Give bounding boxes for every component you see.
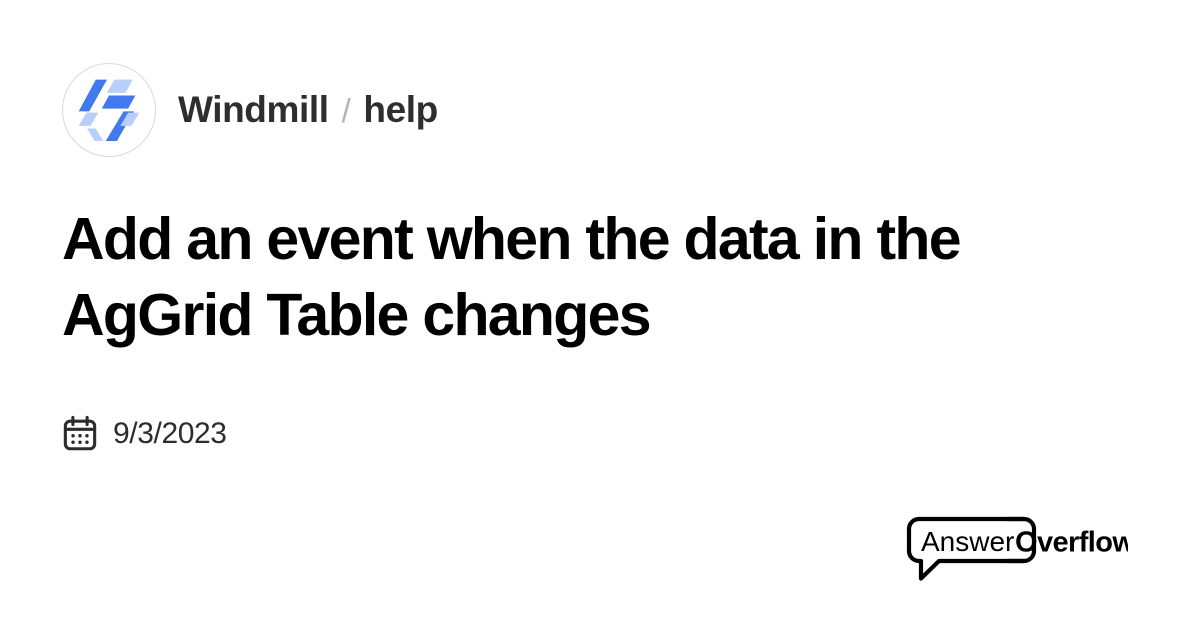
- server-breadcrumb-row: Windmill / help: [62, 62, 1136, 158]
- social-card: Windmill / help Add an event when the da…: [0, 0, 1200, 630]
- calendar-icon: [62, 415, 98, 452]
- date-row: 9/3/2023: [62, 415, 1136, 452]
- breadcrumb: Windmill / help: [178, 89, 438, 131]
- breadcrumb-separator: /: [342, 92, 351, 130]
- avatar: [62, 63, 156, 157]
- breadcrumb-channel-name[interactable]: help: [363, 89, 437, 131]
- page-title: Add an event when the data in the AgGrid…: [62, 201, 1072, 353]
- answer-overflow-logo: Answer Overflow: [906, 516, 1128, 582]
- post-date: 9/3/2023: [113, 417, 227, 451]
- breadcrumb-server-name[interactable]: Windmill: [178, 89, 329, 131]
- answer-overflow-name-bold: Overflow: [1015, 527, 1128, 559]
- windmill-pinwheel-logo-icon: [76, 77, 142, 143]
- answer-overflow-name-regular: Answer: [921, 526, 1014, 557]
